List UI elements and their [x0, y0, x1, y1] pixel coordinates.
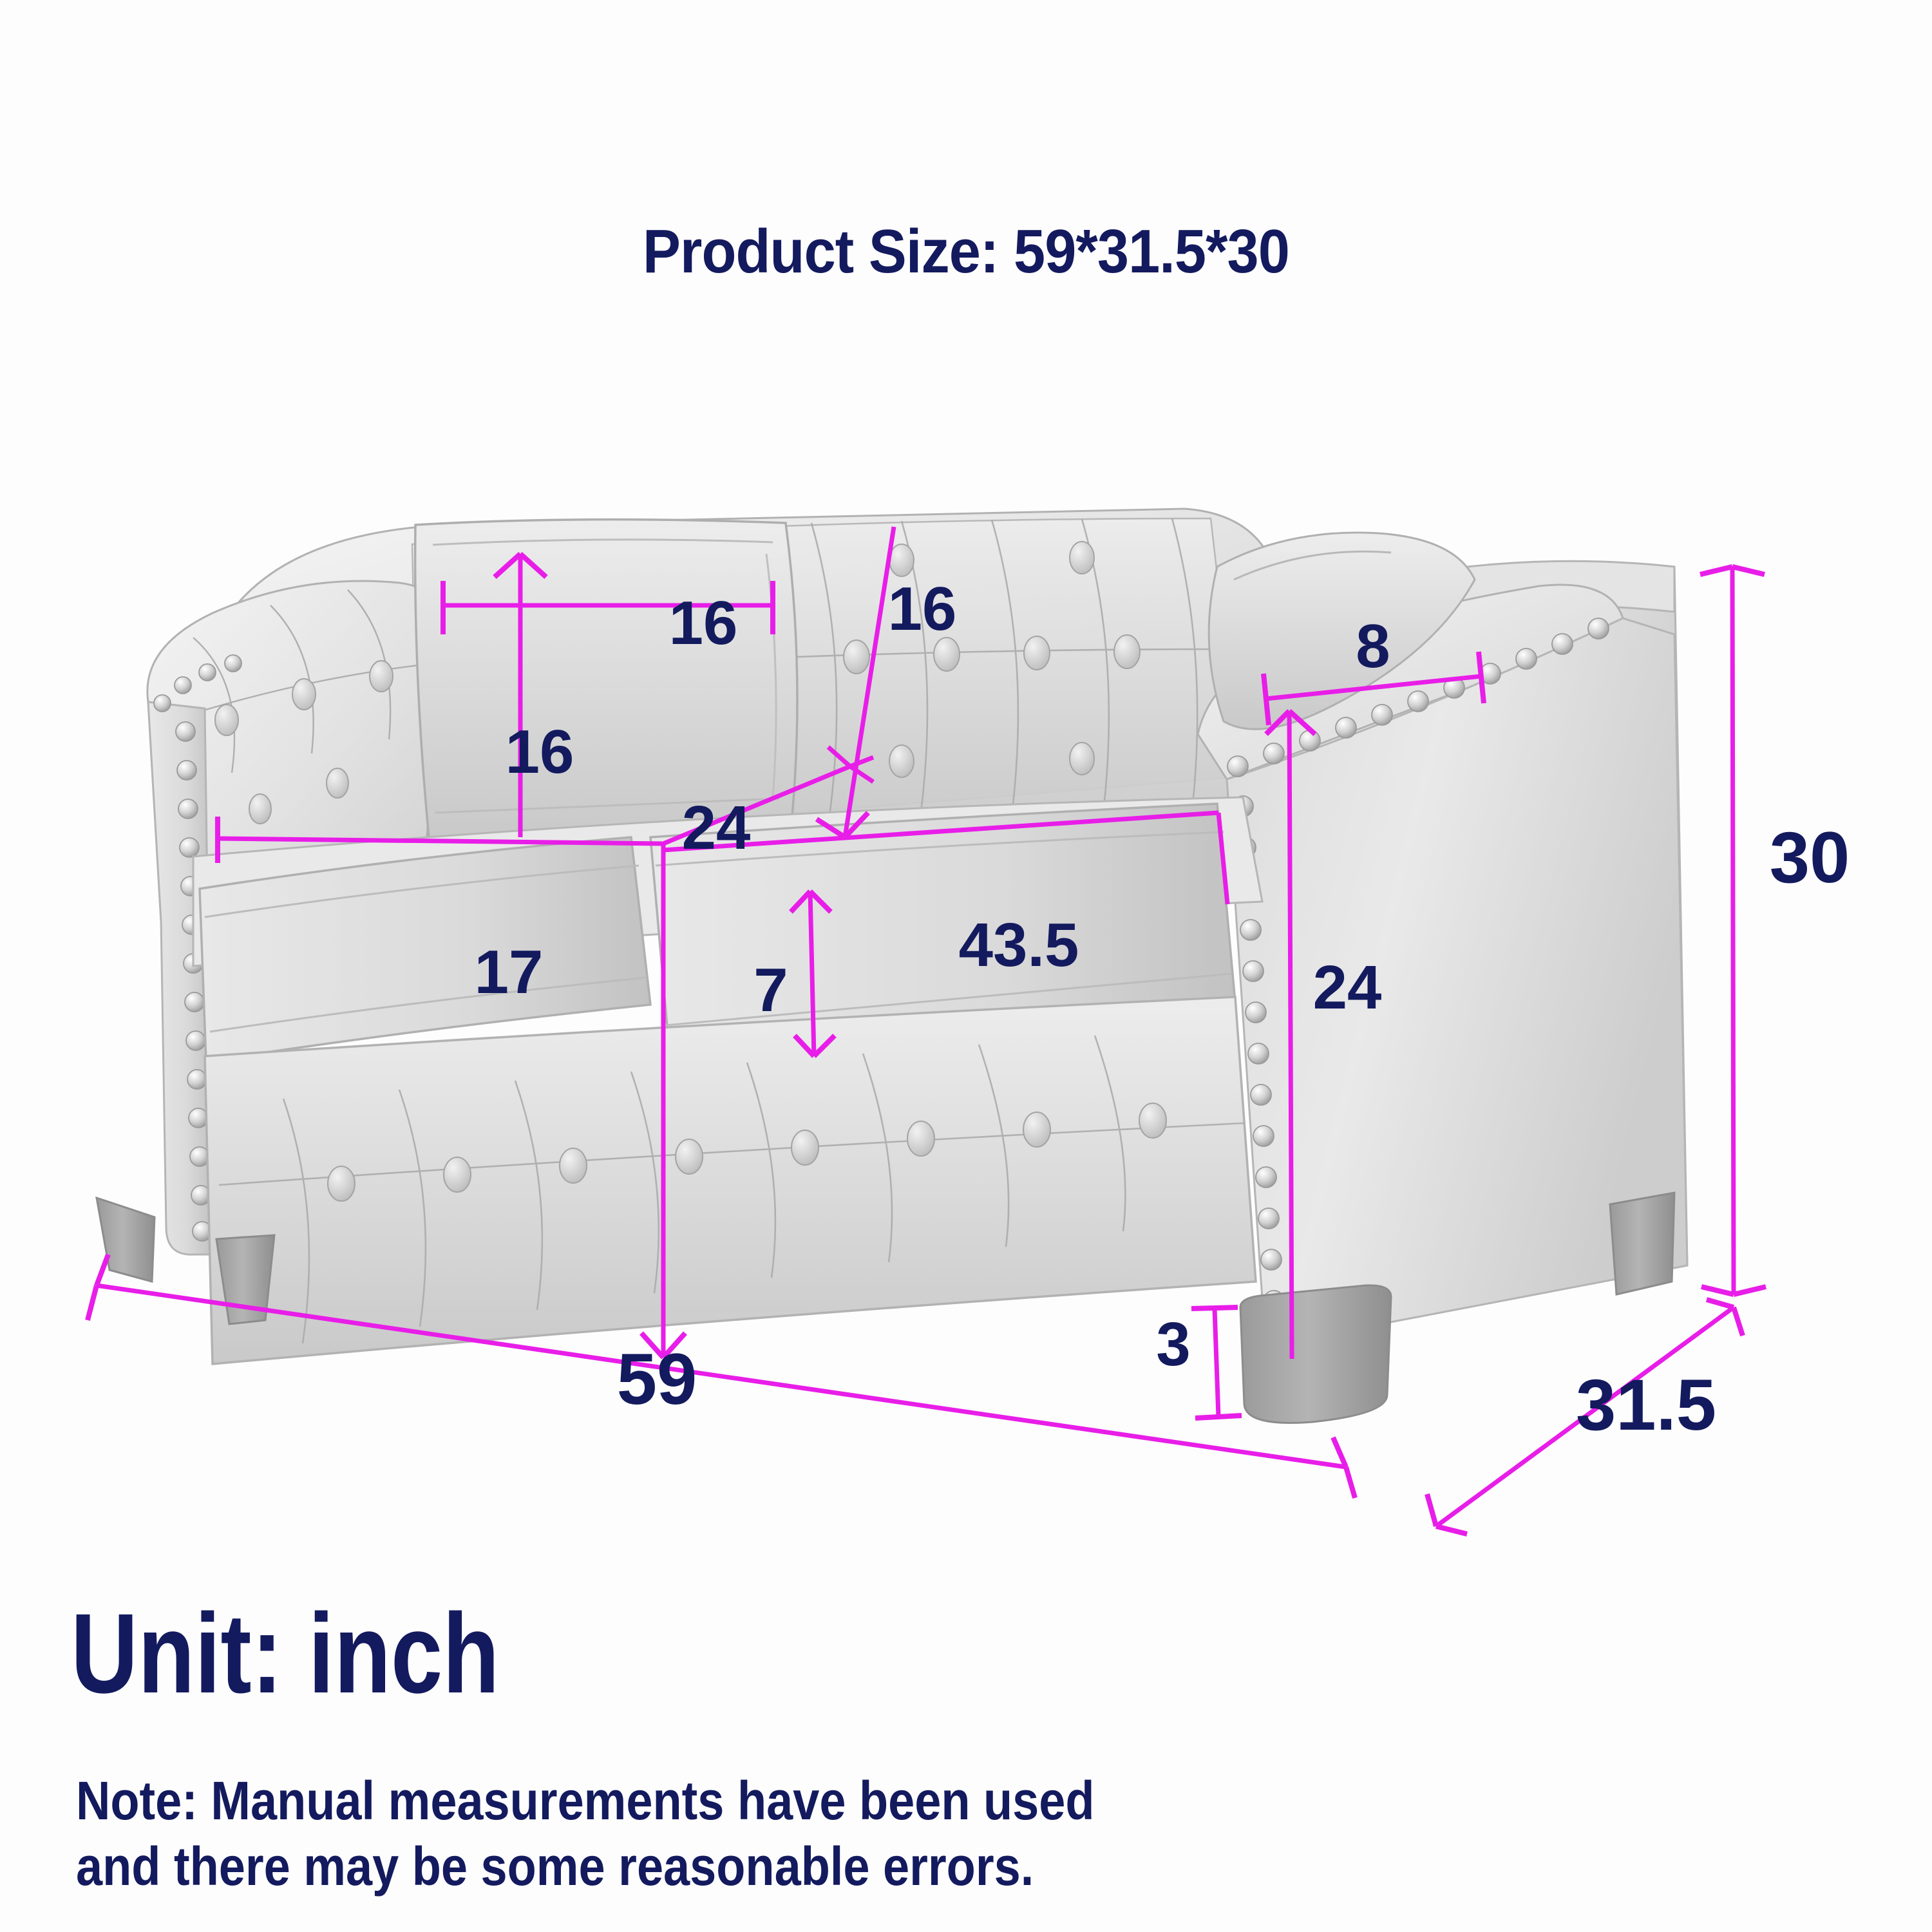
dim-overall-depth: 31.5	[1576, 1365, 1716, 1445]
dim-seat-height: 17	[475, 938, 544, 1007]
leg-front-right	[1240, 1285, 1391, 1423]
dim-pillow-width: 16	[669, 589, 738, 658]
dim-cushion-thickness: 7	[753, 956, 788, 1025]
sofa-illustration	[97, 509, 1687, 1423]
diagram-canvas: Product Size: 59*31.5*30	[0, 0, 1932, 1932]
dim-arm-width: 8	[1356, 612, 1390, 681]
dim-backrest-height: 16	[888, 574, 957, 643]
dim-overall-width: 59	[617, 1339, 697, 1419]
dim-seat-width: 43.5	[959, 911, 1079, 980]
dim-pillow-height: 16	[506, 717, 574, 786]
unit-label: Unit: inch	[71, 1597, 499, 1710]
throw-pillow-left	[415, 520, 797, 837]
tufted-base	[205, 997, 1256, 1364]
dim-arm-height: 24	[1313, 953, 1382, 1022]
dim-seat-depth: 24	[682, 793, 751, 862]
dim-leg-height: 3	[1156, 1310, 1190, 1379]
leg-back-right	[1610, 1193, 1674, 1294]
dim-overall-height: 30	[1770, 817, 1850, 898]
measurement-note: Note: Manual measurements have been used…	[76, 1768, 1095, 1900]
